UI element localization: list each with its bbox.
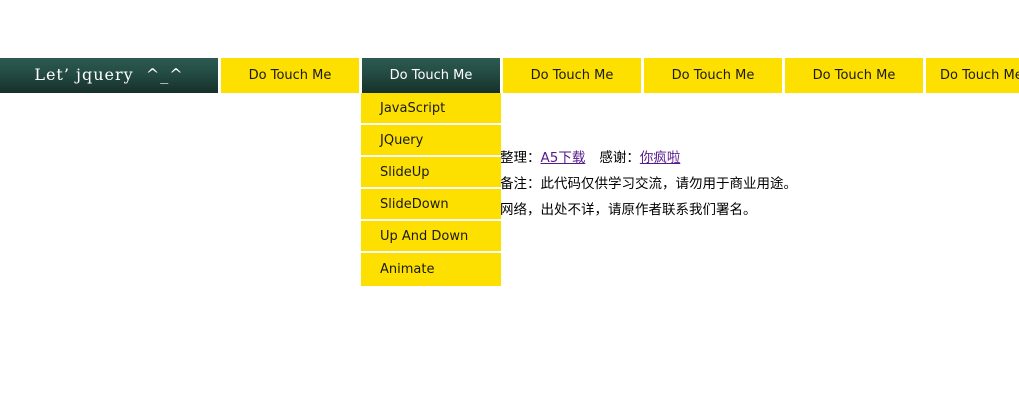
dropdown-item-slidedown[interactable]: SlideDown <box>361 189 501 221</box>
dropdown-item-javascript[interactable]: JavaScript <box>361 93 501 125</box>
dropdown-menu: JavaScript JQuery SlideUp SlideDown Up A… <box>361 93 501 286</box>
dropdown-item-jquery[interactable]: JQuery <box>361 125 501 157</box>
nav-item-label: Do Touch Me <box>813 68 896 83</box>
nav-item-3[interactable]: Do Touch Me <box>644 58 782 93</box>
dropdown-item-label: JavaScript <box>380 101 445 116</box>
dropdown-item-animate[interactable]: Animate <box>361 253 501 286</box>
dropdown-item-label: SlideUp <box>380 165 430 180</box>
notice-line-1: ＊尊重他人劳动成果 备注：此代码仅供学习交流，请勿用于商业用途。 <box>0 172 1019 198</box>
nav-item-5[interactable]: Do Touch Me <box>926 58 1019 93</box>
dropdown-item-label: Up And Down <box>380 229 468 244</box>
notice-line-2-right: 网络，出处不详，请原作者联系我们署名。 <box>500 198 757 218</box>
link-nifengla[interactable]: 你疯啦 <box>640 150 681 166</box>
link-a5-download[interactable]: A5下载 <box>541 150 586 166</box>
nav-item-label: Do Touch Me <box>249 68 332 83</box>
nav-item-label: Do Touch Me <box>531 68 614 83</box>
nav-item-4[interactable]: Do Touch Me <box>785 58 923 93</box>
nav-item-label: Do Touch Me <box>672 68 755 83</box>
dropdown-item-slideup[interactable]: SlideUp <box>361 157 501 189</box>
nav-item-2[interactable]: Do Touch Me <box>503 58 641 93</box>
nav-item-label: Do Touch Me <box>940 68 1019 83</box>
credit-line: 整理：A5下载感谢：你疯啦 <box>0 146 1019 172</box>
dropdown-item-up-and-down[interactable]: Up And Down <box>361 221 501 253</box>
credit-thanks-label: 感谢： <box>599 150 640 166</box>
notice-line-1-right: 备注：此代码仅供学习交流，请勿用于商业用途。 <box>500 172 797 192</box>
site-logo[interactable]: Let’ jquery ^_^ <box>0 58 218 93</box>
nav-item-1[interactable]: Do Touch Me <box>362 58 500 93</box>
dropdown-item-label: JQuery <box>380 133 423 148</box>
nav-item-0[interactable]: Do Touch Me <box>221 58 359 93</box>
page-content: 整理：A5下载感谢：你疯啦 ＊尊重他人劳动成果 备注：此代码仅供学习交流，请勿用… <box>0 146 1019 224</box>
top-navigation-bar: Let’ jquery ^_^ Do Touch Me Do Touch Me … <box>0 58 1019 93</box>
dropdown-item-label: Animate <box>380 262 434 277</box>
credit-line-right: 整理：A5下载感谢：你疯啦 <box>500 146 680 166</box>
notice-line-2: jquery下拉菜单 网络，出处不详，请原作者联系我们署名。 <box>0 198 1019 224</box>
nav-item-label: Do Touch Me <box>390 68 473 83</box>
credit-organizer-label: 整理： <box>500 150 541 166</box>
dropdown-item-label: SlideDown <box>380 197 449 212</box>
